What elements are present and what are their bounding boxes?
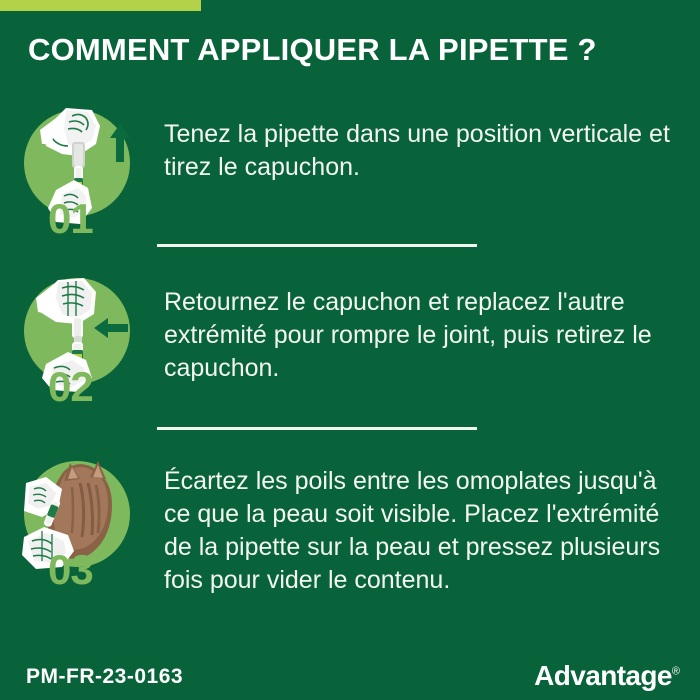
step-divider-2 xyxy=(157,427,477,430)
step-3-illustration: 03 xyxy=(22,455,134,575)
brand-logo: Advantage® xyxy=(534,660,680,692)
arrow-left-icon xyxy=(94,318,128,338)
step-number-2: 02 xyxy=(48,366,93,408)
step-text-3: Écartez les poils entre les omoplates ju… xyxy=(164,465,684,597)
top-accent-bar xyxy=(0,0,201,11)
registered-trademark-icon: ® xyxy=(672,666,680,678)
document-code: PM-FR-23-0163 xyxy=(26,665,183,689)
step-text-2: Retournez le capuchon et replacez l'autr… xyxy=(164,286,684,385)
step-2-illustration: 02 xyxy=(22,272,134,392)
infographic-page: COMMENT APPLIQUER LA PIPETTE ? xyxy=(0,0,700,700)
brand-name: Advantage xyxy=(534,660,672,691)
step-text-1: Tenez la pipette dans une position verti… xyxy=(164,118,684,184)
step-divider-1 xyxy=(157,244,477,247)
step-1-illustration: 01 xyxy=(22,104,134,224)
page-title: COMMENT APPLIQUER LA PIPETTE ? xyxy=(28,33,678,67)
step-number-1: 01 xyxy=(48,198,93,240)
arrow-up-icon xyxy=(110,124,130,162)
step-number-3: 03 xyxy=(48,549,93,591)
